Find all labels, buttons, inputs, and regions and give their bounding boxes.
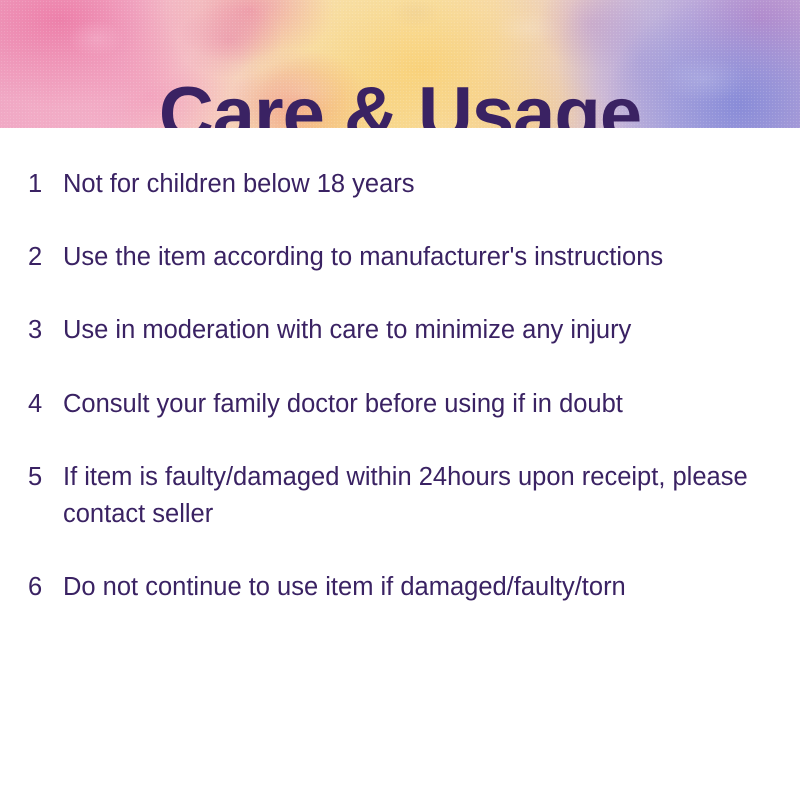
list-item: 3 Use in moderation with care to minimiz… [28,312,770,349]
list-item-text: Consult your family doctor before using … [63,386,763,423]
list-item-text: Not for children below 18 years [63,166,763,203]
list-item: 2 Use the item according to manufacturer… [28,239,770,276]
list-item: 4 Consult your family doctor before usin… [28,386,770,423]
list-item-number: 4 [28,386,63,423]
list-item-text: Do not continue to use item if damaged/f… [63,569,763,606]
content-area: 1 Not for children below 18 years 2 Use … [0,128,800,607]
list-item-text: Use the item according to manufacturer's… [63,239,763,276]
list-item: 1 Not for children below 18 years [28,166,770,203]
care-and-usage-page: Care & Usage 1 Not for children below 18… [0,0,800,800]
list-item-number: 2 [28,239,63,276]
list-item-text: If item is faulty/damaged within 24hours… [63,459,763,533]
list-item-number: 3 [28,312,63,349]
list-item-number: 5 [28,459,63,496]
list-item-text: Use in moderation with care to minimize … [63,312,763,349]
page-title: Care & Usage [0,77,800,128]
list-item-number: 6 [28,569,63,606]
list-item-number: 1 [28,166,63,203]
watercolor-header-banner: Care & Usage [0,0,800,128]
list-item: 6 Do not continue to use item if damaged… [28,569,770,606]
list-item: 5 If item is faulty/damaged within 24hou… [28,459,770,533]
care-instructions-list: 1 Not for children below 18 years 2 Use … [0,128,800,607]
